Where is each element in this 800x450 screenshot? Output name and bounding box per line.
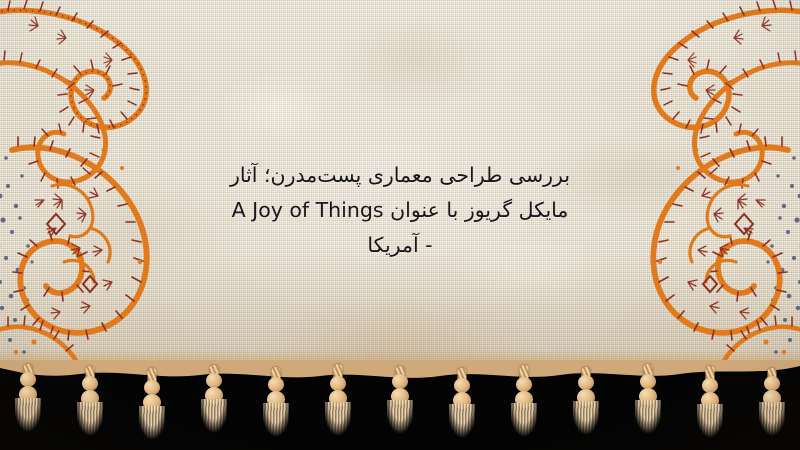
tassel-skirt — [77, 402, 103, 436]
tassel-skirt — [697, 404, 723, 438]
tassel — [508, 365, 540, 450]
tassel-skirt — [139, 406, 165, 440]
title-line-2: مایکل گریوز با عنوان A Joy of Things — [170, 193, 630, 228]
tassel-knot-upper — [268, 377, 284, 392]
tassel — [260, 367, 292, 450]
tassel — [384, 366, 416, 450]
tassel — [694, 366, 726, 450]
tassel-knot-upper — [640, 374, 656, 389]
tassel-knot-upper — [20, 372, 36, 387]
tassel-knot-upper — [206, 373, 222, 388]
tassel — [198, 365, 230, 450]
tassel — [12, 364, 44, 450]
tassel — [570, 367, 602, 450]
tassel-knot-upper — [702, 378, 718, 393]
tassel-fringe — [0, 360, 800, 450]
tassel — [446, 368, 478, 450]
tassel-skirt — [759, 402, 785, 436]
tassel-knot-upper — [454, 378, 470, 393]
tassel — [136, 368, 168, 450]
tassel — [632, 364, 664, 450]
tassel-knot-upper — [330, 376, 346, 391]
tassel-skirt — [635, 400, 661, 434]
title-line-3: - آمریکا — [170, 228, 630, 263]
tassel-knot-upper — [516, 377, 532, 392]
slide-title: بررسی طراحی معماری پست‌مدرن؛ آثار مایکل … — [170, 158, 630, 263]
slide-canvas: بررسی طراحی معماری پست‌مدرن؛ آثار مایکل … — [0, 0, 800, 450]
tassel-skirt — [201, 399, 227, 433]
tassel-skirt — [15, 398, 41, 432]
tassel-skirt — [511, 403, 537, 437]
tassel-knot-upper — [82, 376, 98, 391]
tassel-knot-upper — [578, 375, 594, 390]
tassel-skirt — [263, 403, 289, 437]
tassel-skirt — [325, 402, 351, 436]
tassel — [74, 366, 106, 450]
tassel-skirt — [449, 404, 475, 438]
tassel-knot-upper — [392, 374, 408, 389]
tassel — [756, 368, 788, 450]
tassel-skirt — [573, 401, 599, 435]
tassel-skirt — [387, 400, 413, 434]
tassel-knot-upper — [144, 380, 160, 395]
tassel-knot-upper — [764, 376, 780, 391]
title-line-1: بررسی طراحی معماری پست‌مدرن؛ آثار — [170, 158, 630, 193]
tassel — [322, 364, 354, 450]
